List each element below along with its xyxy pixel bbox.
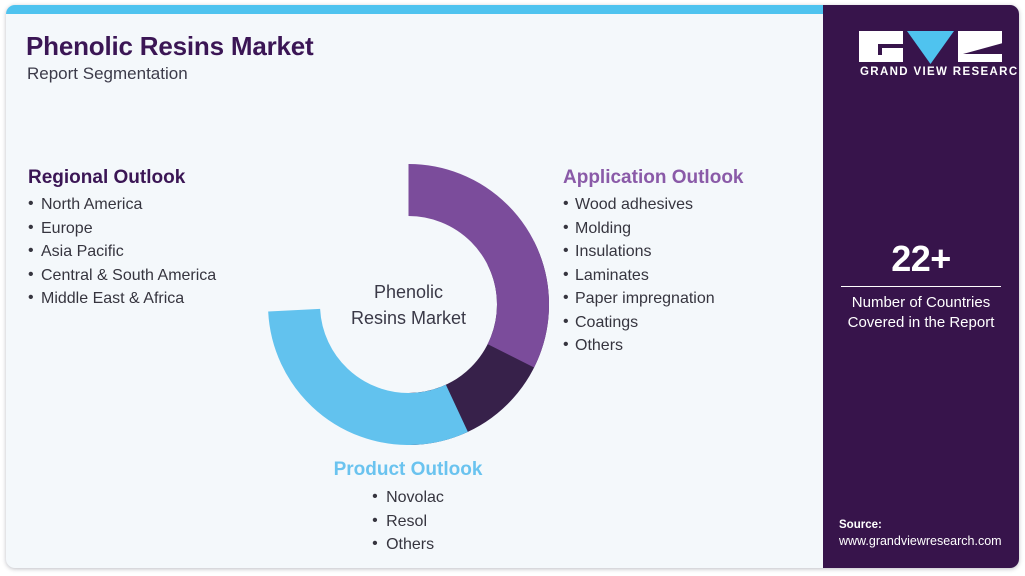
grand-view-research-logo: GRAND VIEW RESEARCH <box>859 31 1002 79</box>
logo-wordmark: GRAND VIEW RESEARCH <box>860 66 1019 78</box>
list-item: Others <box>563 334 744 358</box>
logo-triangle-v-icon <box>907 31 954 64</box>
source-block: Source: www.grandviewresearch.com <box>839 517 1019 550</box>
list-item: Novolac <box>372 486 444 510</box>
stat-label-line-2: Covered in the Report <box>831 313 1011 333</box>
product-outlook-block: Product Outlook Novolac Resol Others <box>272 459 544 557</box>
page-subtitle: Report Segmentation <box>27 64 188 84</box>
list-item: Asia Pacific <box>28 240 216 264</box>
accent-top-bar <box>6 5 823 14</box>
report-card: Phenolic Resins Market Report Segmentati… <box>6 5 1019 568</box>
product-outlook-list-wrap: Novolac Resol Others <box>372 486 444 557</box>
countries-stat: 22+ Number of Countries Covered in the R… <box>831 239 1011 333</box>
logo-letter-r-icon <box>958 31 1002 62</box>
list-item: Resol <box>372 510 444 534</box>
sidebar-panel: GRAND VIEW RESEARCH 22+ Number of Countr… <box>823 5 1019 568</box>
product-outlook-list: Novolac Resol Others <box>372 486 444 557</box>
stat-label-line-1: Number of Countries <box>831 293 1011 313</box>
segmentation-donut-chart: Phenolic Resins Market <box>268 164 549 445</box>
source-label: Source: <box>839 517 1019 533</box>
list-item: North America <box>28 193 216 217</box>
stat-divider <box>841 286 1001 287</box>
list-item: Molding <box>563 217 744 241</box>
list-item: Paper impregnation <box>563 287 744 311</box>
list-item: Laminates <box>563 264 744 288</box>
list-item: Wood adhesives <box>563 193 744 217</box>
page-title: Phenolic Resins Market <box>26 31 313 62</box>
list-item: Central & South America <box>28 264 216 288</box>
regional-outlook-heading: Regional Outlook <box>28 167 216 189</box>
stat-value: 22+ <box>831 239 1011 279</box>
donut-svg <box>268 164 549 445</box>
application-outlook-block: Application Outlook Wood adhesives Moldi… <box>563 167 744 358</box>
regional-outlook-list: North America Europe Asia Pacific Centra… <box>28 193 216 311</box>
list-item: Others <box>372 533 444 557</box>
logo-mark <box>859 31 1002 63</box>
logo-letter-g-icon <box>859 31 903 62</box>
regional-outlook-block: Regional Outlook North America Europe As… <box>28 167 216 311</box>
list-item: Europe <box>28 217 216 241</box>
source-url[interactable]: www.grandviewresearch.com <box>839 533 1019 550</box>
product-outlook-heading: Product Outlook <box>272 459 544 481</box>
list-item: Middle East & Africa <box>28 287 216 311</box>
application-outlook-list: Wood adhesives Molding Insulations Lamin… <box>563 193 744 358</box>
list-item: Insulations <box>563 240 744 264</box>
application-outlook-heading: Application Outlook <box>563 167 744 189</box>
infographic-canvas: Phenolic Resins Market Report Segmentati… <box>0 0 1025 576</box>
list-item: Coatings <box>563 311 744 335</box>
